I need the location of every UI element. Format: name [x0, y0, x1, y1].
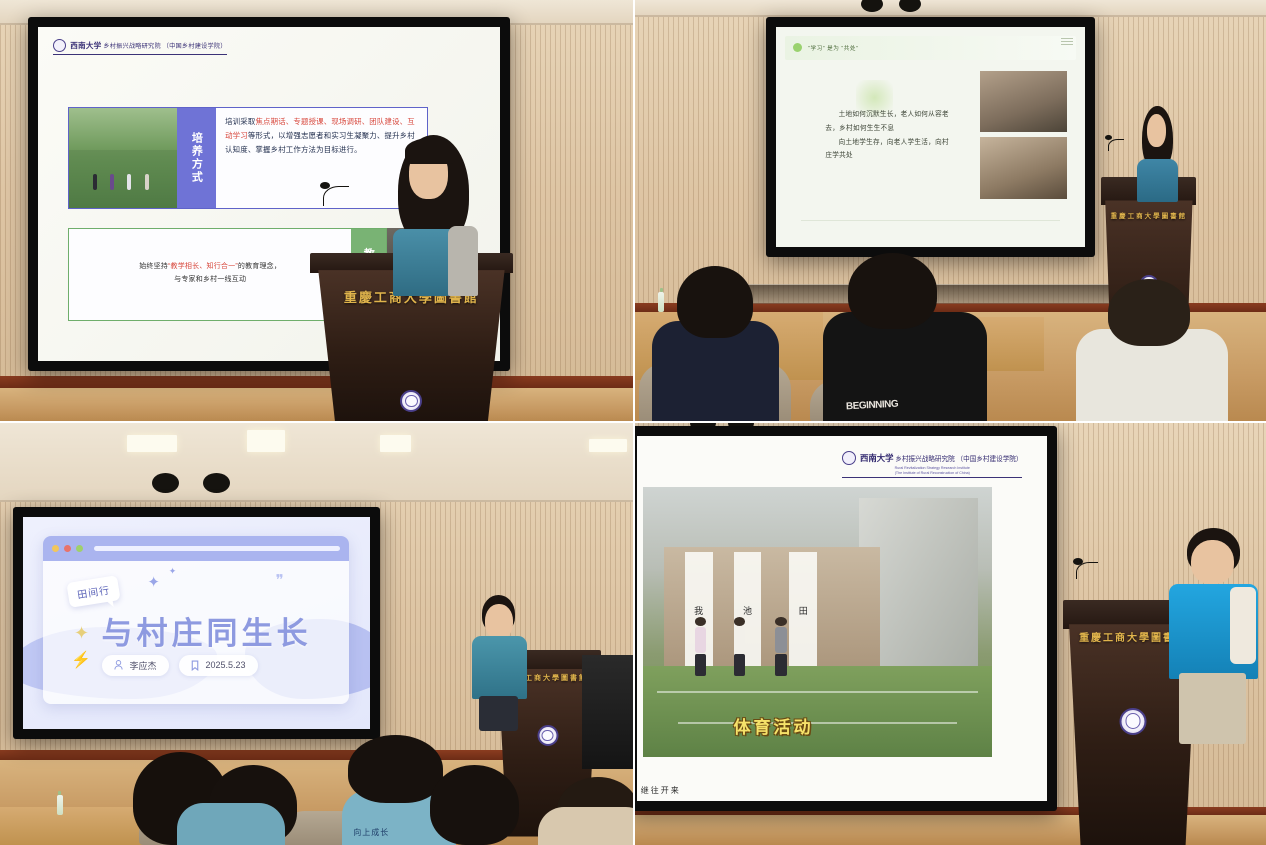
date-chip: 2025.5.23 — [179, 655, 258, 676]
slide-header-bar: “学习” 是为 “共处” — [785, 36, 1076, 60]
water-bottle — [658, 292, 664, 312]
ceiling-speaker-icon — [152, 473, 179, 493]
bullet-icon — [793, 43, 802, 52]
logo-university: 西南大学 — [860, 453, 894, 463]
projection-screen-surface: 西南大学 乡村振兴战略研究院 （中国乡村建设学院） Rural Revitali… — [637, 436, 1047, 801]
ceiling — [0, 422, 633, 502]
audience-head-4 — [430, 765, 519, 845]
panel-top-left: 西南大学 乡村振兴战略研究院 （中国乡村建设学院） — [0, 0, 633, 422]
university-emblem-icon — [400, 390, 422, 412]
banner-3: 田 — [789, 552, 817, 671]
microphone-icon — [1076, 562, 1098, 579]
slide-title-page: ✦ ✦ ❞ ✦ ⚡ 田间行 与村庄同生长 — [23, 517, 370, 730]
slide-main-title: 与村庄同生长 — [102, 608, 312, 653]
logo-institute-1: 乡村振兴战略研究院 — [103, 43, 161, 50]
shirt-text: BEGINNING — [846, 399, 899, 413]
photo-caption: 体育活动 — [734, 713, 814, 738]
ceiling-light — [247, 430, 285, 451]
card-education-philosophy-text: 始终坚持“教学相长、知行合一”的教育理念， 与专家和乡村一线互动 — [69, 229, 350, 321]
logo-english-1: Rural Revitalization Strategy Research I… — [895, 466, 970, 470]
university-emblem-icon — [537, 725, 558, 746]
card-training-method: 培养方式 培训采取焦点期话、专题授课、现场调研、团队建设、互动学习等形式，以增强… — [68, 107, 428, 209]
body-line-2: 向土地学生存，向老人学生活，向村庄学共处 — [825, 136, 955, 163]
window-dot-yellow-icon — [52, 545, 59, 552]
speaker-female-presenter — [380, 135, 494, 287]
browser-titlebar — [43, 536, 349, 561]
audience-head-center — [848, 253, 937, 329]
sparkle-icon: ✦ — [169, 566, 177, 577]
slide-tag-label: 田间行 — [66, 576, 120, 609]
slide-header-title: “学习” 是为 “共处” — [808, 44, 858, 52]
audience-head-right — [1108, 279, 1190, 347]
sports-activity-photo: 我 池 田 — [643, 487, 992, 757]
panel-divider-horizontal — [0, 421, 1266, 423]
bookmark-icon — [191, 660, 199, 671]
presentation-date: 2025.5.23 — [206, 660, 246, 670]
slide-divider — [801, 220, 1061, 221]
water-bottle — [57, 795, 63, 815]
panel-bottom-right: 西南大学 乡村振兴战略研究院 （中国乡村建设学院） Rural Revitali… — [633, 422, 1266, 845]
author-name: 李应杰 — [130, 659, 157, 672]
audience-head-left — [677, 266, 753, 338]
hamburger-menu-icon — [1061, 38, 1073, 46]
sparkle-icon: ✦ — [147, 573, 160, 591]
lightning-icon: ⚡ — [71, 650, 91, 670]
card-tab-training-method: 培养方式 — [177, 108, 216, 208]
exercising-person-2 — [734, 617, 745, 676]
logo-university: 西南大学 — [70, 41, 101, 50]
av-equipment-rack — [582, 655, 633, 769]
university-emblem-icon — [1120, 708, 1147, 735]
grass-court — [643, 666, 992, 758]
microphone-icon — [323, 186, 349, 206]
logo-institute-2: （中国乡村建设学院） — [163, 43, 227, 50]
elderly-visit-photo — [980, 137, 1067, 198]
projection-screen-frame: 西南大学 乡村振兴战略研究院 （中国乡村建设学院） Rural Revitali… — [633, 426, 1057, 811]
exercising-person-1 — [695, 617, 706, 676]
speaker-male-presenter-vest — [1165, 528, 1266, 824]
window-dot-red-icon — [64, 545, 71, 552]
audience-vest-1 — [177, 803, 285, 845]
slide-logo: 西南大学 乡村振兴战略研究院 （中国乡村建设学院） Rural Revitali… — [842, 451, 1022, 478]
logo-english-2: (The Institute of Rural Reconstruction o… — [895, 471, 970, 475]
panel-bottom-left: ✦ ✦ ❞ ✦ ⚡ 田间行 与村庄同生长 — [0, 422, 633, 845]
slide-footer-text: 继往开来 — [641, 785, 681, 796]
speaker-male-presenter — [468, 595, 531, 739]
author-chip: 李应杰 — [102, 655, 169, 676]
slide-photo-stack — [980, 71, 1067, 199]
speaker-female-presenter-far — [1133, 106, 1184, 199]
microphone-icon — [1108, 139, 1124, 151]
university-seal-icon — [53, 39, 66, 52]
body-line-1: 土地如何沉默生长，老人如何从容老去，乡村如何生生不息 — [825, 108, 955, 135]
slide-sports-activity: 西南大学 乡村振兴战略研究院 （中国乡村建设学院） Rural Revitali… — [637, 436, 1047, 801]
audience-body-5 — [538, 807, 633, 845]
university-seal-icon — [842, 451, 856, 465]
address-bar — [94, 546, 340, 551]
vest-text: 向上成长 — [353, 827, 389, 838]
logo-institute-2: （中国乡村建设学院） — [957, 456, 1023, 463]
ceiling-light — [127, 435, 178, 452]
sparkle-icon: ✦ — [74, 623, 89, 644]
podium-label: 重慶工商大學圖書館 — [1101, 210, 1196, 220]
window-dot-green-icon — [76, 545, 83, 552]
user-icon — [114, 660, 123, 670]
training-photo-thumbnail — [69, 108, 176, 208]
ceiling-speaker-icon — [203, 473, 230, 493]
village-volunteer-photo — [980, 71, 1067, 132]
slide-body-text: 土地如何沉默生长，老人如何从容老去，乡村如何生生不息 向土地学生存，向老人学生活… — [825, 108, 955, 162]
ceiling-light — [380, 435, 412, 452]
slide-meta-row: 李应杰 2025.5.23 — [102, 655, 258, 676]
ceiling-light — [589, 439, 627, 452]
ceiling — [633, 0, 1266, 17]
exercising-person-3 — [775, 617, 786, 676]
logo-institute-1: 乡村振兴战略研究院 — [895, 456, 954, 463]
photo-collage: 西南大学 乡村振兴战略研究院 （中国乡村建设学院） — [0, 0, 1266, 845]
projection-screen-surface: “学习” 是为 “共处” 土地如何沉默生长，老人如何从容老去，乡村如何生生不息 … — [776, 27, 1085, 248]
audience-head-3 — [348, 735, 443, 803]
projection-screen-frame: ✦ ✦ ❞ ✦ ⚡ 田间行 与村庄同生长 — [13, 507, 380, 740]
projection-screen-surface: ✦ ✦ ❞ ✦ ⚡ 田间行 与村庄同生长 — [23, 517, 370, 730]
slide-learning: “学习” 是为 “共处” 土地如何沉默生长，老人如何从容老去，乡村如何生生不息 … — [776, 27, 1085, 248]
slide-browser-card: ✦ ✦ ❞ ✦ ⚡ 田间行 与村庄同生长 — [43, 536, 349, 704]
panel-top-right: “学习” 是为 “共处” 土地如何沉默生长，老人如何从容老去，乡村如何生生不息 … — [633, 0, 1266, 422]
sparkle-icon: ❞ — [276, 571, 284, 589]
slide-logo: 西南大学 乡村振兴战略研究院 （中国乡村建设学院） — [53, 39, 226, 55]
projection-screen-frame: “学习” 是为 “共处” 土地如何沉默生长，老人如何从容老去，乡村如何生生不息 … — [766, 17, 1095, 258]
